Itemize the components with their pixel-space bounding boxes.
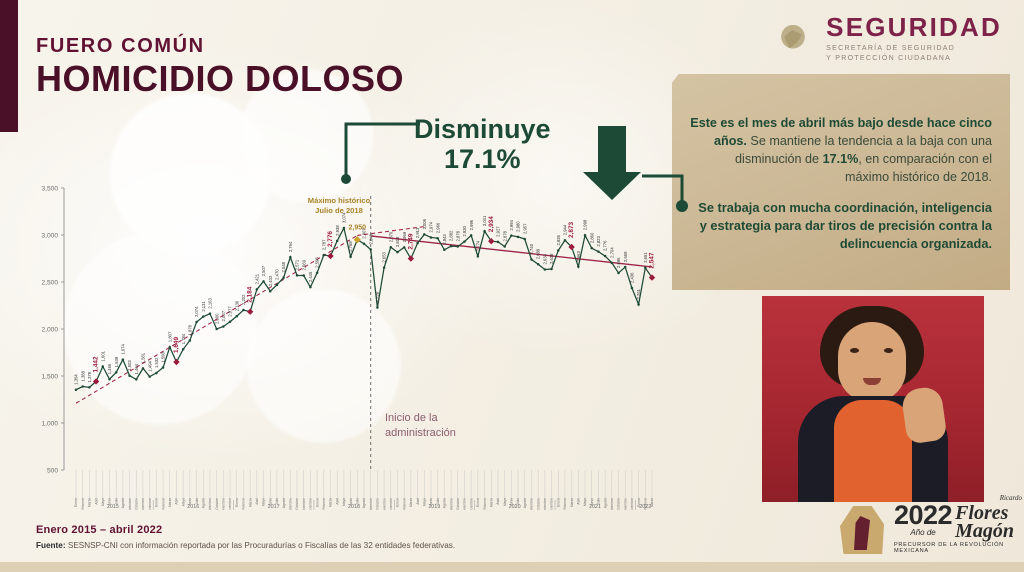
y-tick-label: 1,000 bbox=[41, 420, 58, 427]
highlight-value-label: 2,873 bbox=[568, 221, 575, 237]
max-historic-annotation: Máximo histórico Julio de 2018 bbox=[291, 196, 387, 217]
badge-year: 2022 bbox=[894, 502, 952, 529]
data-point bbox=[209, 312, 212, 315]
info-panel: Este es el mes de abril más bajo desde h… bbox=[672, 74, 1010, 290]
month-label: Diciembre bbox=[469, 498, 473, 510]
month-label: Noviembre bbox=[543, 498, 547, 510]
highlight-marker bbox=[408, 255, 414, 261]
data-point bbox=[564, 239, 567, 242]
month-label: Enero bbox=[74, 498, 78, 507]
value-label: 2,944 bbox=[563, 224, 568, 235]
value-label: 2,860 bbox=[589, 232, 594, 243]
month-label: Marzo bbox=[409, 498, 413, 507]
month-label: Abril bbox=[255, 498, 259, 505]
year-label: 2021 bbox=[589, 504, 601, 510]
year-label: 2022 bbox=[639, 504, 651, 510]
month-label: Febrero bbox=[402, 498, 406, 510]
value-label: 2,261 bbox=[636, 288, 641, 299]
data-point bbox=[88, 386, 91, 389]
data-point bbox=[336, 240, 339, 243]
max-note-line1: Máximo histórico bbox=[291, 196, 387, 206]
data-point bbox=[282, 276, 285, 279]
value-label: 2,938 bbox=[335, 225, 340, 236]
month-label: Marzo bbox=[168, 498, 172, 507]
data-point bbox=[597, 250, 600, 253]
value-label: 2,131 bbox=[201, 301, 206, 312]
data-point bbox=[142, 367, 145, 370]
data-point bbox=[637, 303, 640, 306]
highlight-marker bbox=[327, 253, 333, 259]
callout-title: Disminuye bbox=[414, 116, 551, 144]
data-point bbox=[343, 227, 346, 230]
data-point bbox=[349, 256, 352, 258]
interpreter-hand bbox=[900, 385, 947, 444]
chart-svg: 5001,0001,5002,0002,5003,0003,500 EneroF… bbox=[18, 180, 666, 510]
value-label: 2,704 bbox=[609, 247, 614, 258]
highlight-value-label: 1,649 bbox=[173, 337, 180, 353]
month-label: Enero bbox=[155, 498, 159, 507]
page-title: HOMICIDIO DOLOSO bbox=[36, 60, 404, 99]
value-label: 2,907 bbox=[362, 228, 367, 239]
month-label: Enero bbox=[556, 498, 560, 507]
data-point bbox=[390, 246, 393, 249]
value-label: 1,503 bbox=[127, 360, 132, 371]
data-point bbox=[215, 328, 218, 331]
data-point bbox=[550, 268, 553, 271]
data-point bbox=[477, 255, 480, 258]
data-point bbox=[617, 272, 620, 275]
data-point bbox=[423, 233, 426, 236]
data-point bbox=[383, 266, 386, 269]
value-label: 2,633 bbox=[542, 253, 547, 264]
value-label: 1,784 bbox=[181, 333, 186, 344]
badge-ano-de: Año de bbox=[910, 529, 935, 537]
badge-ricardo: Ricardo bbox=[1000, 495, 1022, 502]
month-label: Marzo bbox=[88, 498, 92, 507]
month-label: Octubre bbox=[215, 498, 219, 510]
data-point bbox=[644, 267, 647, 270]
footnote-source-text: SESNSP-CNI con información reportada por… bbox=[66, 541, 456, 550]
disminuye-callout: Disminuye 17.1% bbox=[414, 116, 551, 175]
value-label: 1,674 bbox=[120, 343, 125, 354]
month-label: Mayo bbox=[422, 498, 426, 506]
value-label: 2,764 bbox=[288, 241, 293, 252]
month-label: Diciembre bbox=[389, 498, 393, 510]
value-label: 2,913 bbox=[415, 227, 420, 238]
value-label: 2,569 bbox=[301, 259, 306, 270]
month-label: Noviembre bbox=[222, 498, 226, 510]
value-label: 2,768 bbox=[348, 241, 353, 252]
admin-note-line1: Inicio de la bbox=[385, 411, 456, 426]
data-point bbox=[122, 358, 125, 361]
value-label: 2,651 bbox=[643, 252, 648, 263]
month-label: Septiembre bbox=[289, 498, 293, 510]
month-label: Abril bbox=[577, 498, 581, 505]
value-label: 2,436 bbox=[630, 272, 635, 283]
value-label: 2,740 bbox=[529, 243, 534, 254]
data-point bbox=[510, 234, 513, 237]
data-point bbox=[102, 365, 105, 368]
y-tick-label: 1,500 bbox=[41, 373, 58, 380]
month-label: Octubre bbox=[617, 498, 621, 510]
value-label: 2,776 bbox=[603, 240, 608, 251]
month-label: Agosto bbox=[443, 498, 447, 508]
month-label: Mayo bbox=[262, 498, 266, 506]
value-label: 2,998 bbox=[583, 219, 588, 230]
data-point bbox=[242, 309, 245, 312]
decrease-arrow-and-bracket bbox=[570, 126, 700, 216]
value-label: 1,464 bbox=[134, 363, 139, 374]
data-point bbox=[316, 272, 319, 275]
year-label: 2015 bbox=[107, 504, 119, 510]
data-point bbox=[631, 287, 634, 290]
data-point bbox=[235, 315, 238, 318]
month-label: Noviembre bbox=[623, 498, 627, 510]
month-label: Agosto bbox=[362, 498, 366, 508]
highlight-marker bbox=[247, 309, 253, 315]
data-point bbox=[162, 366, 165, 369]
footer-strip bbox=[0, 562, 1024, 572]
homicidio-doloso-line-chart: 5001,0001,5002,0002,5003,0003,500 EneroF… bbox=[18, 180, 666, 510]
month-label: Marzo bbox=[570, 498, 574, 507]
value-label: 2,659 bbox=[623, 251, 628, 262]
month-label: Febrero bbox=[242, 498, 246, 510]
data-point bbox=[369, 248, 372, 251]
data-point bbox=[557, 249, 560, 252]
value-label: 2,027 bbox=[221, 310, 226, 321]
month-label: Mayo bbox=[342, 498, 346, 506]
month-label: Febrero bbox=[322, 498, 326, 510]
data-point bbox=[75, 388, 78, 391]
data-point bbox=[276, 284, 279, 287]
data-point bbox=[517, 236, 520, 239]
value-label: 2,994 bbox=[509, 219, 514, 230]
value-label: 2,818 bbox=[395, 236, 400, 247]
month-label: Agosto bbox=[121, 498, 125, 508]
month-label: Septiembre bbox=[208, 498, 212, 510]
month-label: Mayo bbox=[181, 498, 185, 506]
month-label: Noviembre bbox=[382, 498, 386, 510]
value-label: 2,869 bbox=[402, 231, 407, 242]
month-label: Enero bbox=[315, 498, 319, 507]
data-point bbox=[463, 240, 466, 243]
year-label: 2018 bbox=[348, 504, 360, 510]
data-point bbox=[450, 245, 453, 248]
month-label: Febrero bbox=[483, 498, 487, 510]
month-label: Abril bbox=[335, 498, 339, 505]
data-point bbox=[302, 274, 305, 277]
left-accent-bar bbox=[0, 0, 18, 132]
data-point bbox=[457, 245, 460, 248]
footnote-range: Enero 2015 – abril 2022 bbox=[36, 524, 455, 536]
highlight-value-label: 2,547 bbox=[649, 252, 656, 268]
value-label: 2,470 bbox=[275, 269, 280, 280]
value-label: 2,843 bbox=[442, 234, 447, 245]
admin-start-annotation: Inicio de la administración bbox=[385, 411, 456, 441]
year-label: 2016 bbox=[187, 504, 199, 510]
value-label: 2,229 bbox=[375, 291, 380, 302]
month-label: Diciembre bbox=[309, 498, 313, 510]
value-label: 2,774 bbox=[475, 240, 480, 251]
data-point bbox=[81, 385, 84, 388]
y-tick-label: 500 bbox=[47, 467, 58, 474]
month-label: Marzo bbox=[489, 498, 493, 507]
data-point bbox=[416, 242, 419, 245]
month-label: Mayo bbox=[583, 498, 587, 506]
value-label: 2,878 bbox=[455, 230, 460, 241]
value-label: 2,787 bbox=[321, 239, 326, 250]
month-label: Septiembre bbox=[369, 498, 373, 510]
month-label: Enero bbox=[396, 498, 400, 507]
data-point bbox=[189, 339, 192, 342]
highlight-value-label: 2,184 bbox=[247, 286, 254, 302]
data-point bbox=[256, 288, 259, 291]
data-point bbox=[584, 234, 587, 237]
data-point bbox=[503, 245, 506, 248]
value-label: 1,807 bbox=[167, 331, 172, 342]
interpreter-eye-right bbox=[884, 348, 893, 353]
month-label: Mayo bbox=[101, 498, 105, 506]
data-point bbox=[537, 263, 540, 266]
value-label: 1,388 bbox=[80, 370, 85, 381]
value-label: 2,846 bbox=[368, 233, 373, 244]
trend-lines bbox=[76, 227, 652, 404]
month-label: Diciembre bbox=[550, 498, 554, 510]
data-point bbox=[611, 262, 614, 265]
value-label: 1,601 bbox=[100, 350, 105, 361]
data-point bbox=[148, 375, 151, 378]
month-label: Enero bbox=[235, 498, 239, 507]
month-label: Agosto bbox=[201, 498, 205, 508]
badge-name-line2: Magón bbox=[955, 522, 1014, 540]
month-label: Agosto bbox=[523, 498, 527, 508]
value-label: 1,590 bbox=[161, 351, 166, 362]
y-tick-label: 3,000 bbox=[41, 232, 58, 239]
sign-language-interpreter-video bbox=[762, 296, 984, 502]
month-label: Octubre bbox=[376, 498, 380, 510]
badge-name-group: Flores Magón bbox=[955, 505, 1014, 540]
data-point bbox=[115, 371, 118, 374]
data-point bbox=[323, 254, 326, 257]
data-point bbox=[483, 230, 486, 233]
data-point bbox=[182, 348, 185, 351]
y-axis-ticks: 5001,0001,5002,0002,5003,0003,500 bbox=[41, 185, 64, 474]
value-label: 2,878 bbox=[502, 230, 507, 241]
month-label: Agosto bbox=[603, 498, 607, 508]
highlight-value-label: 2,934 bbox=[488, 216, 495, 232]
flores-magon-badge: Ricardo 2022 Año de Flores Magón PRECURS… bbox=[830, 500, 1024, 556]
value-label: 3,006 bbox=[422, 218, 427, 229]
data-point bbox=[296, 274, 299, 277]
month-label: Marzo bbox=[329, 498, 333, 507]
value-label: 2,136 bbox=[234, 300, 239, 311]
data-point bbox=[108, 378, 111, 381]
info-paragraph-1: Este es el mes de abril más bajo desde h… bbox=[690, 115, 992, 187]
month-label: Septiembre bbox=[449, 498, 453, 510]
value-label: 2,663 bbox=[576, 251, 581, 262]
value-label: 2,163 bbox=[208, 298, 213, 309]
data-point bbox=[135, 378, 138, 381]
homicide-series-line bbox=[76, 228, 652, 390]
y-tick-label: 2,000 bbox=[41, 326, 58, 333]
value-label: 2,689 bbox=[536, 248, 541, 259]
value-label: 1,878 bbox=[187, 324, 192, 335]
data-point bbox=[309, 286, 312, 289]
escudo-nacional-icon bbox=[770, 16, 816, 62]
month-label: Septiembre bbox=[530, 498, 534, 510]
data-point bbox=[443, 249, 446, 252]
year-label: 2019 bbox=[428, 504, 440, 510]
highlight-value-label: 2,749 bbox=[407, 233, 414, 249]
data-point bbox=[523, 238, 526, 241]
data-point bbox=[202, 315, 205, 318]
value-label: 2,077 bbox=[228, 306, 233, 317]
value-label: 2,445 bbox=[308, 271, 313, 282]
value-label: 2,930 bbox=[462, 225, 467, 236]
year-label: 2020 bbox=[509, 504, 521, 510]
data-point bbox=[128, 374, 131, 377]
data-point-markers bbox=[75, 227, 655, 391]
value-label: 2,598 bbox=[315, 257, 320, 268]
value-label: 2,000 bbox=[214, 313, 219, 324]
footnote-source: Fuente: SESNSP-CNI con información repor… bbox=[36, 541, 455, 550]
month-label: Febrero bbox=[81, 498, 85, 510]
data-point bbox=[376, 306, 379, 309]
value-label: 2,823 bbox=[596, 235, 601, 246]
data-point bbox=[530, 258, 533, 261]
value-label: 2,202 bbox=[241, 294, 246, 305]
admin-note-line2: administración bbox=[385, 426, 456, 441]
value-label: 2,957 bbox=[522, 223, 527, 234]
month-label: Octubre bbox=[295, 498, 299, 510]
value-label: 1,354 bbox=[74, 374, 79, 385]
info-paragraph-2: Se trabaja con mucha coordinación, intel… bbox=[690, 199, 992, 253]
badge-year-group: 2022 Año de bbox=[894, 502, 952, 540]
month-label: Octubre bbox=[134, 498, 138, 510]
value-label: 1,494 bbox=[147, 360, 152, 371]
value-label: 2,421 bbox=[254, 273, 259, 284]
data-point bbox=[497, 241, 500, 244]
value-labels: 1,3541,3881,3791,4421,6011,4661,5391,674… bbox=[74, 212, 656, 385]
value-label: 2,638 bbox=[549, 253, 554, 264]
data-point bbox=[577, 265, 580, 268]
value-label: 2,966 bbox=[435, 222, 440, 233]
data-point bbox=[604, 255, 607, 258]
title-block: FUERO COMÚN HOMICIDIO DOLOSO bbox=[36, 36, 404, 99]
badge-precursor: PRECURSOR DE LA REVOLUCIÓN MEXICANA bbox=[894, 543, 1024, 554]
value-label: 2,996 bbox=[469, 219, 474, 230]
data-point bbox=[195, 321, 198, 324]
value-label: 3,041 bbox=[482, 215, 487, 226]
highlight-value-label: 2,776 bbox=[327, 231, 334, 247]
data-point bbox=[403, 246, 406, 249]
month-label: Abril bbox=[94, 498, 98, 505]
month-label: Abril bbox=[175, 498, 179, 505]
data-point bbox=[289, 256, 292, 259]
x-axis-month-labels: EneroFebreroMarzoAbrilMayoJunioJulioAgos… bbox=[74, 470, 654, 510]
data-point bbox=[363, 242, 366, 245]
data-point bbox=[155, 372, 158, 375]
max-note-line2: Julio de 2018 bbox=[291, 206, 387, 216]
seguridad-logo: SEGURIDAD SECRETARÍA DE SEGURIDAD Y PROT… bbox=[770, 14, 1002, 64]
year-label: 2017 bbox=[268, 504, 280, 510]
data-point bbox=[229, 321, 232, 324]
value-label: 1,532 bbox=[154, 357, 159, 368]
month-label: Septiembre bbox=[128, 498, 132, 510]
interpreter-eye-left bbox=[850, 348, 859, 353]
data-point bbox=[222, 325, 225, 328]
y-tick-label: 2,500 bbox=[41, 279, 58, 286]
month-label: Noviembre bbox=[302, 498, 306, 510]
kicker-text: FUERO COMÚN bbox=[36, 36, 404, 56]
highlight-value-label: 1,442 bbox=[93, 356, 100, 372]
info-p1-bold2: 17.1% bbox=[823, 152, 859, 166]
interpreter-face bbox=[838, 322, 906, 402]
logo-text: SEGURIDAD SECRETARÍA DE SEGURIDAD Y PROT… bbox=[826, 14, 1002, 64]
month-label: Noviembre bbox=[141, 498, 145, 510]
value-label: 2,974 bbox=[429, 221, 434, 232]
callout-percent: 17.1% bbox=[414, 144, 551, 175]
data-point bbox=[269, 290, 272, 293]
value-label: 2,074 bbox=[194, 306, 199, 317]
value-label: 2,653 bbox=[382, 251, 387, 262]
month-label: Febrero bbox=[563, 498, 567, 510]
data-point bbox=[262, 280, 265, 283]
logo-title: SEGURIDAD bbox=[826, 14, 1002, 40]
y-tick-label: 3,500 bbox=[41, 185, 58, 192]
footnote: Enero 2015 – abril 2022 Fuente: SESNSP-C… bbox=[36, 524, 455, 550]
value-label: 2,835 bbox=[556, 234, 561, 245]
value-label: 2,927 bbox=[496, 226, 501, 237]
highlight-marker bbox=[488, 238, 494, 244]
value-label: 2,980 bbox=[516, 221, 521, 232]
month-label: Noviembre bbox=[463, 498, 467, 510]
month-label: Abril bbox=[496, 498, 500, 505]
interpreter-shirt bbox=[834, 400, 912, 502]
value-label: 2,548 bbox=[281, 261, 286, 272]
month-label: Diciembre bbox=[630, 498, 634, 510]
month-label: Octubre bbox=[456, 498, 460, 510]
callout-leader-line bbox=[336, 120, 426, 190]
value-label: 2,571 bbox=[295, 259, 300, 270]
highlight-marker bbox=[173, 359, 179, 365]
data-point bbox=[169, 346, 172, 349]
month-label: Marzo bbox=[248, 498, 252, 507]
data-point bbox=[396, 251, 399, 254]
value-label: 1,581 bbox=[141, 352, 146, 363]
flores-magon-portrait-icon bbox=[834, 502, 890, 554]
month-label: Enero bbox=[476, 498, 480, 507]
data-point bbox=[544, 268, 547, 271]
data-point bbox=[624, 266, 627, 269]
footnote-source-label: Fuente: bbox=[36, 541, 66, 550]
data-point bbox=[436, 237, 439, 240]
badge-row: 2022 Año de Flores Magón bbox=[894, 502, 1024, 540]
value-label: 2,882 bbox=[449, 230, 454, 241]
logo-subtitle: SECRETARÍA DE SEGURIDAD Y PROTECCIÓN CIU… bbox=[826, 44, 1002, 64]
value-label: 1,466 bbox=[107, 363, 112, 374]
month-label: Septiembre bbox=[610, 498, 614, 510]
month-label: Abril bbox=[416, 498, 420, 505]
value-label: 1,379 bbox=[87, 371, 92, 382]
logo-subtitle-line1: SECRETARÍA DE SEGURIDAD bbox=[826, 44, 1002, 54]
month-label: Agosto bbox=[282, 498, 286, 508]
month-label: Diciembre bbox=[228, 498, 232, 510]
data-point bbox=[430, 236, 433, 239]
data-point bbox=[470, 234, 473, 237]
value-label: 2,507 bbox=[261, 265, 266, 276]
month-label: Mayo bbox=[503, 498, 507, 506]
